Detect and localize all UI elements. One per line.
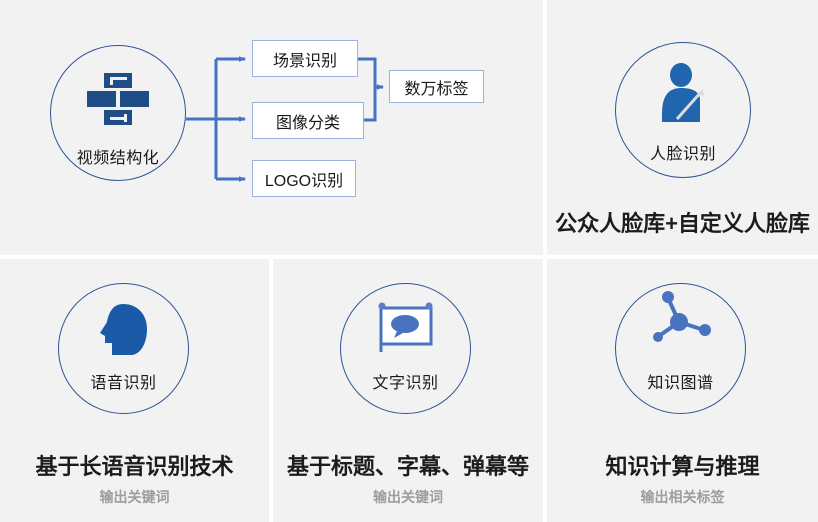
caption-text-recognition: 基于标题、字幕、弹幕等	[273, 449, 543, 481]
face-recognition-icon	[655, 62, 711, 126]
subcaption-speech-recognition: 输出关键词	[0, 487, 269, 507]
circle-label-speech-recognition: 语音识别	[58, 369, 189, 393]
panel-video-structuring: 视频结构化 场景识别 图像分类 LOGO识别 数万标签	[0, 0, 543, 255]
video-structuring-icon	[86, 71, 150, 127]
caption-knowledge-graph: 知识计算与推理	[547, 449, 818, 481]
knowledge-graph-icon	[646, 285, 718, 349]
panel-face-recognition: 人脸识别 公众人脸库+自定义人脸库	[547, 0, 818, 255]
flow-box-scene-recognition[interactable]: 场景识别	[252, 40, 358, 77]
text-banner-icon	[372, 300, 438, 356]
circle-label-knowledge-graph: 知识图谱	[615, 369, 746, 393]
flow-box-logo-recognition[interactable]: LOGO识别	[252, 160, 356, 197]
panel-speech-recognition: 语音识别 基于长语音识别技术 输出关键词	[0, 259, 269, 522]
panel-text-recognition: 文字识别 基于标题、字幕、弹幕等 输出关键词	[273, 259, 543, 522]
circle-label-text-recognition: 文字识别	[340, 369, 471, 393]
caption-face-recognition: 公众人脸库+自定义人脸库	[547, 206, 818, 238]
flow-box-image-classification[interactable]: 图像分类	[252, 102, 364, 139]
flow-box-tens-of-thousands-tags[interactable]: 数万标签	[389, 70, 484, 103]
caption-speech-recognition: 基于长语音识别技术	[0, 449, 269, 481]
speech-head-icon	[95, 303, 153, 359]
subcaption-text-recognition: 输出关键词	[273, 487, 543, 507]
panel-knowledge-graph: 知识图谱 知识计算与推理 输出相关标签	[547, 259, 818, 522]
subcaption-knowledge-graph: 输出相关标签	[547, 487, 818, 507]
circle-label-video-structuring: 视频结构化	[50, 144, 186, 168]
circle-label-face-recognition: 人脸识别	[615, 140, 751, 164]
infographic-board: 视频结构化 场景识别 图像分类 LOGO识别 数万标签	[0, 0, 818, 522]
